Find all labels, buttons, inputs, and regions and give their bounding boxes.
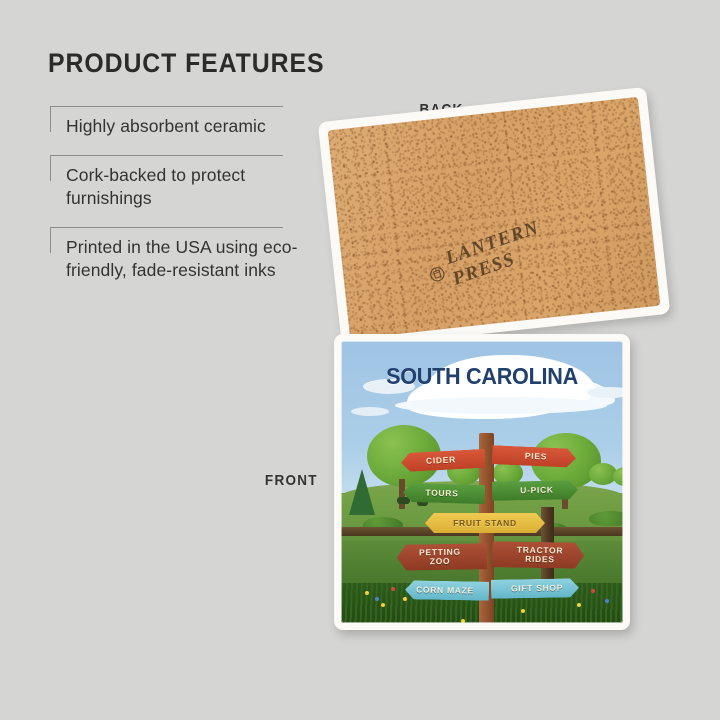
- sign-petting-zoo: PETTING ZOO: [397, 543, 487, 571]
- coaster-artwork: SOUTH CAROLINA CIDER PIES: [341, 341, 623, 623]
- flower-icon: [403, 597, 407, 601]
- sign-corn-maze: CORN MAZE: [405, 580, 489, 600]
- lantern-icon: [428, 264, 447, 284]
- cork-surface: LANTERN PRESS: [328, 97, 661, 339]
- cloud-icon: [351, 407, 389, 416]
- page-title: PRODUCT FEATURES: [48, 48, 280, 79]
- flower-icon: [605, 599, 609, 603]
- front-view-label: FRONT: [265, 472, 318, 489]
- feature-tick: [50, 227, 51, 253]
- tree-icon: [613, 467, 623, 486]
- cloud-icon: [395, 397, 607, 414]
- feature-item: Printed in the USA using eco-friendly, f…: [48, 227, 300, 282]
- flower-icon: [375, 597, 379, 601]
- flower-icon: [461, 619, 465, 623]
- sign-gift-shop: GIFT SHOP: [491, 578, 579, 599]
- flower-icon: [577, 603, 581, 607]
- brand-name: LANTERN PRESS: [443, 204, 585, 290]
- pine-tree-icon: [349, 469, 375, 515]
- flower-icon: [521, 609, 525, 613]
- sign-fruit-stand: FRUIT STAND: [425, 513, 545, 533]
- feature-text: Cork-backed to protect furnishings: [66, 164, 300, 210]
- product-features-panel: PRODUCT FEATURES Highly absorbent cerami…: [48, 48, 300, 299]
- feature-item: Highly absorbent ceramic: [48, 106, 300, 138]
- flower-icon: [381, 603, 385, 607]
- feature-text: Printed in the USA using eco-friendly, f…: [66, 236, 300, 282]
- brand-stamp: LANTERN PRESS: [423, 204, 585, 297]
- bush-icon: [589, 511, 623, 526]
- coaster-front: SOUTH CAROLINA CIDER PIES: [334, 334, 630, 630]
- tree-trunk: [399, 479, 405, 509]
- sign-upick: U-PICK: [492, 480, 578, 500]
- feature-tick: [50, 106, 51, 132]
- feature-tick: [50, 155, 51, 181]
- feature-divider: [50, 155, 283, 156]
- sign-pies: PIES: [492, 445, 577, 468]
- flower-icon: [591, 589, 595, 593]
- flower-icon: [365, 591, 369, 595]
- sign-tractor-rides: TRACTOR RIDES: [492, 541, 584, 569]
- feature-item: Cork-backed to protect furnishings: [48, 155, 300, 210]
- sign-tours: TOURS: [403, 483, 485, 504]
- feature-divider: [50, 227, 283, 228]
- coaster-back: LANTERN PRESS: [318, 87, 671, 349]
- artwork-title: SOUTH CAROLINA: [349, 363, 614, 390]
- feature-text: Highly absorbent ceramic: [66, 115, 300, 138]
- cattle-icon: [397, 497, 410, 504]
- feature-divider: [50, 106, 283, 107]
- flower-icon: [391, 587, 395, 591]
